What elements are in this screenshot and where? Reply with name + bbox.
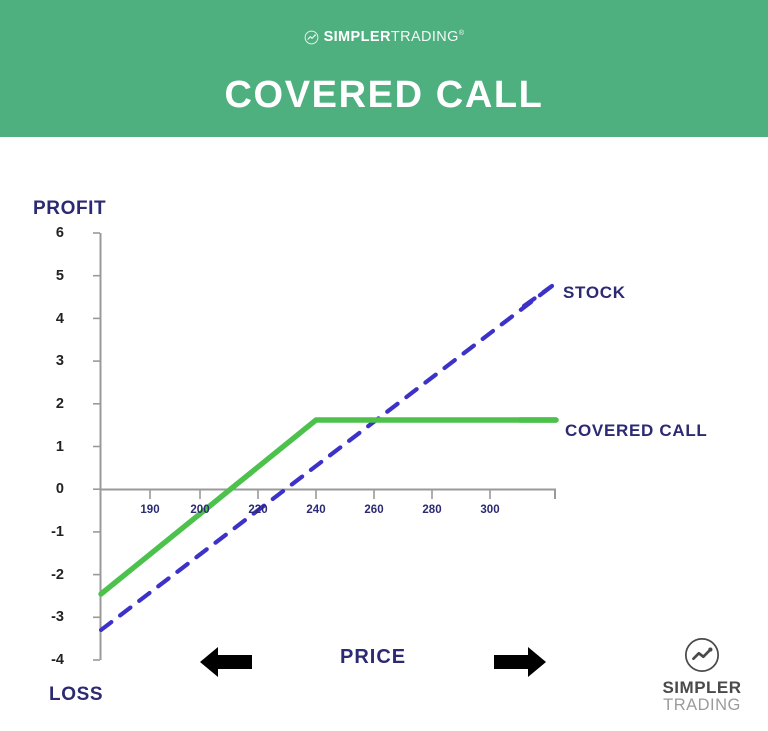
y-tick-label: -2	[32, 568, 64, 583]
y-tick-label: 6	[36, 226, 64, 241]
x-tick-label: 280	[412, 505, 452, 517]
series-line-stock	[101, 286, 552, 630]
registered-mark: ®	[459, 30, 465, 37]
x-tick-label: 240	[296, 505, 336, 517]
chart-circle-icon	[304, 30, 319, 45]
x-tick-label: 220	[238, 505, 278, 517]
footer-brand-trading: TRADING	[658, 697, 746, 714]
legend-label-covered-call: COVERED CALL	[565, 422, 708, 439]
chart-container: PROFIT LOSS PRICE 6 5 4 3 2 1 0 -1 -2 -3…	[0, 137, 768, 731]
x-axis-title-price: PRICE	[340, 647, 406, 667]
y-tick-label: 1	[36, 440, 64, 455]
legend-label-stock: STOCK	[563, 284, 626, 301]
y-tick-label: 5	[36, 269, 64, 284]
x-axis-ticks	[150, 490, 490, 500]
y-axis-title-loss: LOSS	[49, 685, 103, 704]
y-tick-label: -4	[32, 653, 64, 668]
price-arrow-right-icon	[492, 642, 548, 682]
brand-light-text: TRADING	[391, 29, 459, 45]
y-tick-label: -3	[32, 610, 64, 625]
y-axis-ticks	[93, 233, 100, 660]
y-tick-label: 0	[36, 482, 64, 497]
y-tick-label: 4	[36, 312, 64, 327]
brand-text: SIMPLERTRADING®	[324, 30, 465, 45]
brand-bold-text: SIMPLER	[324, 29, 391, 45]
x-tick-label: 260	[354, 505, 394, 517]
y-tick-label: 3	[36, 354, 64, 369]
page-title: COVERED CALL	[0, 76, 768, 114]
x-tick-label: 300	[470, 505, 510, 517]
x-tick-label: 190	[130, 505, 170, 517]
brand-lockup: SIMPLERTRADING®	[0, 30, 768, 45]
y-tick-label: -1	[32, 525, 64, 540]
page-header-banner: SIMPLERTRADING® COVERED CALL	[0, 0, 768, 137]
y-axis-title-profit: PROFIT	[33, 199, 106, 218]
y-tick-label: 2	[36, 397, 64, 412]
footer-brand-logo: SIMPLER TRADING	[658, 636, 746, 714]
footer-brand-simpler: SIMPLER	[658, 679, 746, 697]
chart-circle-icon	[683, 636, 721, 674]
x-tick-label: 200	[180, 505, 220, 517]
price-arrow-left-icon	[198, 642, 254, 682]
